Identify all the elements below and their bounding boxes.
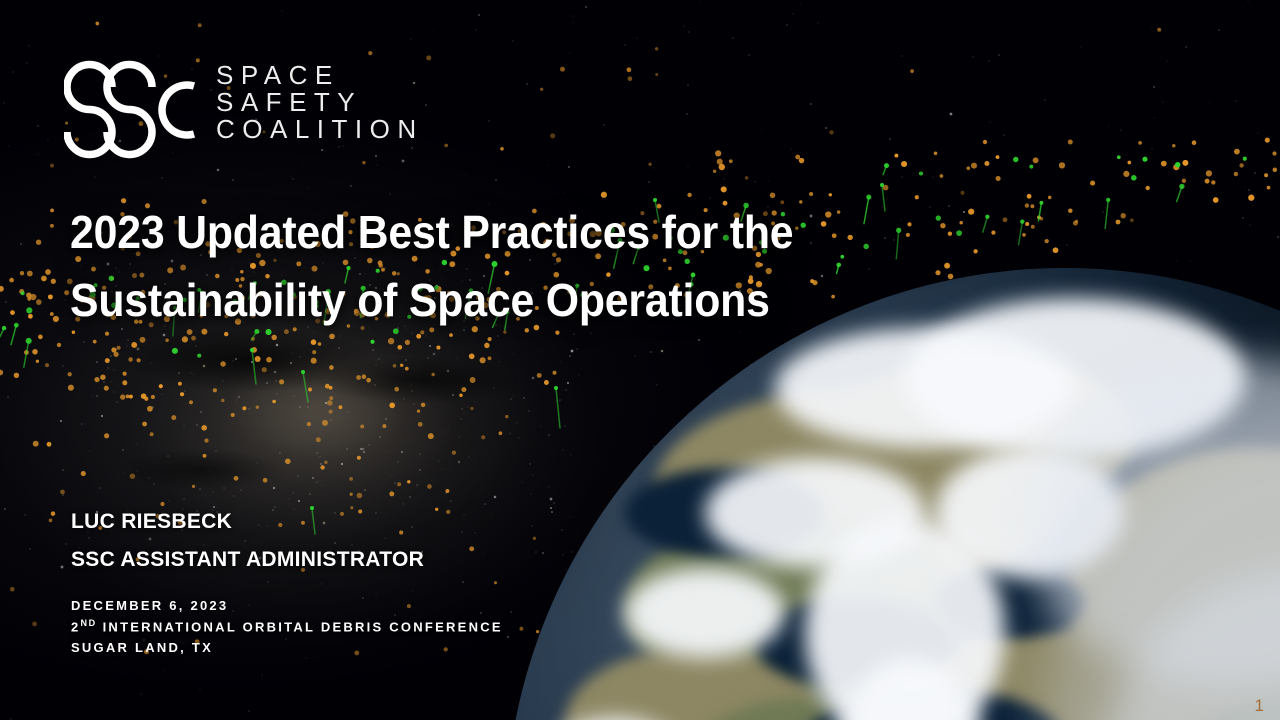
wordmark-line-safety: SAFETY [216, 89, 424, 116]
event-location: SUGAR LAND, TX [71, 637, 711, 658]
slide-title-line-2: Sustainability of Space Operations [70, 266, 888, 334]
presenter-name: LUC RIESBECK [71, 503, 631, 541]
ssc-monogram-icon [64, 60, 224, 165]
conference-ordinal-suffix: ND [80, 618, 96, 628]
wordmark-line-space: SPACE [216, 62, 424, 89]
event-date: DECEMBER 6, 2023 [71, 595, 711, 616]
wordmark-line-coalition: COALITION [216, 116, 424, 143]
conference-name: INTERNATIONAL ORBITAL DEBRIS CONFERENCE [103, 619, 503, 634]
ssc-logo: SPACE SAFETY COALITION [64, 60, 464, 165]
presenter-block: LUC RIESBECK SSC ASSISTANT ADMINISTRATOR [71, 503, 631, 579]
slide-title-line-1: 2023 Updated Best Practices for the [70, 198, 888, 266]
slide-page-number: 1 [1255, 697, 1264, 714]
presentation-slide: SPACE SAFETY COALITION 2023 Updated Best… [0, 0, 1280, 720]
presenter-role: SSC ASSISTANT ADMINISTRATOR [71, 541, 631, 579]
ssc-wordmark: SPACE SAFETY COALITION [216, 62, 424, 143]
event-details: DECEMBER 6, 2023 2ND INTERNATIONAL ORBIT… [71, 595, 711, 658]
slide-title: 2023 Updated Best Practices for the Sust… [70, 198, 888, 334]
event-conference: 2ND INTERNATIONAL ORBITAL DEBRIS CONFERE… [71, 616, 711, 637]
